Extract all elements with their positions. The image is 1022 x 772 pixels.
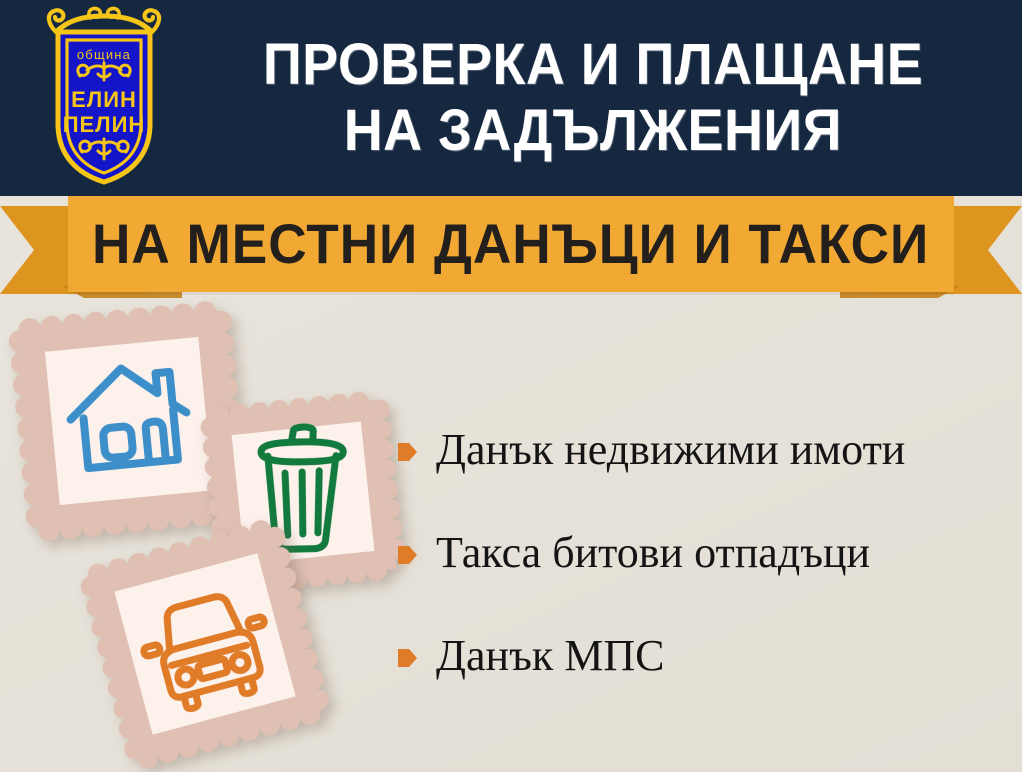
crest-municipality-label: община (77, 47, 131, 62)
list-item[interactable]: Данък МПС (398, 630, 1008, 682)
title-line-1: ПРОВЕРКА И ПЛАЩАНЕ (263, 32, 923, 98)
list-item-label: Данък недвижими имоти (436, 425, 905, 475)
ribbon-band: НА МЕСТНИ ДАНЪЦИ И ТАКСИ (68, 196, 954, 292)
arrow-bullet-icon (398, 441, 417, 463)
list-item[interactable]: Такса битови отпадъци (398, 527, 1008, 579)
crest-name-line2: ПЕЛИН (63, 112, 146, 137)
ribbon-label: НА МЕСТНИ ДАНЪЦИ И ТАКСИ (92, 214, 929, 274)
list-item[interactable]: Данък недвижими имоти (398, 424, 1008, 476)
crest-name-line1: ЕЛИН (71, 87, 137, 112)
poster-canvas: община ЕЛИН ПЕЛИН (0, 0, 1022, 772)
arrow-bullet-icon (398, 544, 417, 566)
list-item-label: Такса битови отпадъци (436, 528, 870, 578)
title-line-2: НА ЗАДЪЛЖЕНИЯ (344, 98, 842, 164)
header-bar: община ЕЛИН ПЕЛИН (0, 0, 1022, 196)
services-list: Данък недвижими имоти Такса битови отпад… (398, 424, 1008, 682)
poster-title: ПРОВЕРКА И ПЛАЩАНЕ НА ЗАДЪЛЖЕНИЯ (178, 0, 1008, 196)
list-item-label: Данък МПС (436, 631, 664, 681)
arrow-bullet-icon (398, 647, 417, 669)
subtitle-ribbon: НА МЕСТНИ ДАНЪЦИ И ТАКСИ (0, 196, 1022, 304)
municipality-crest: община ЕЛИН ПЕЛИН (34, 6, 174, 190)
